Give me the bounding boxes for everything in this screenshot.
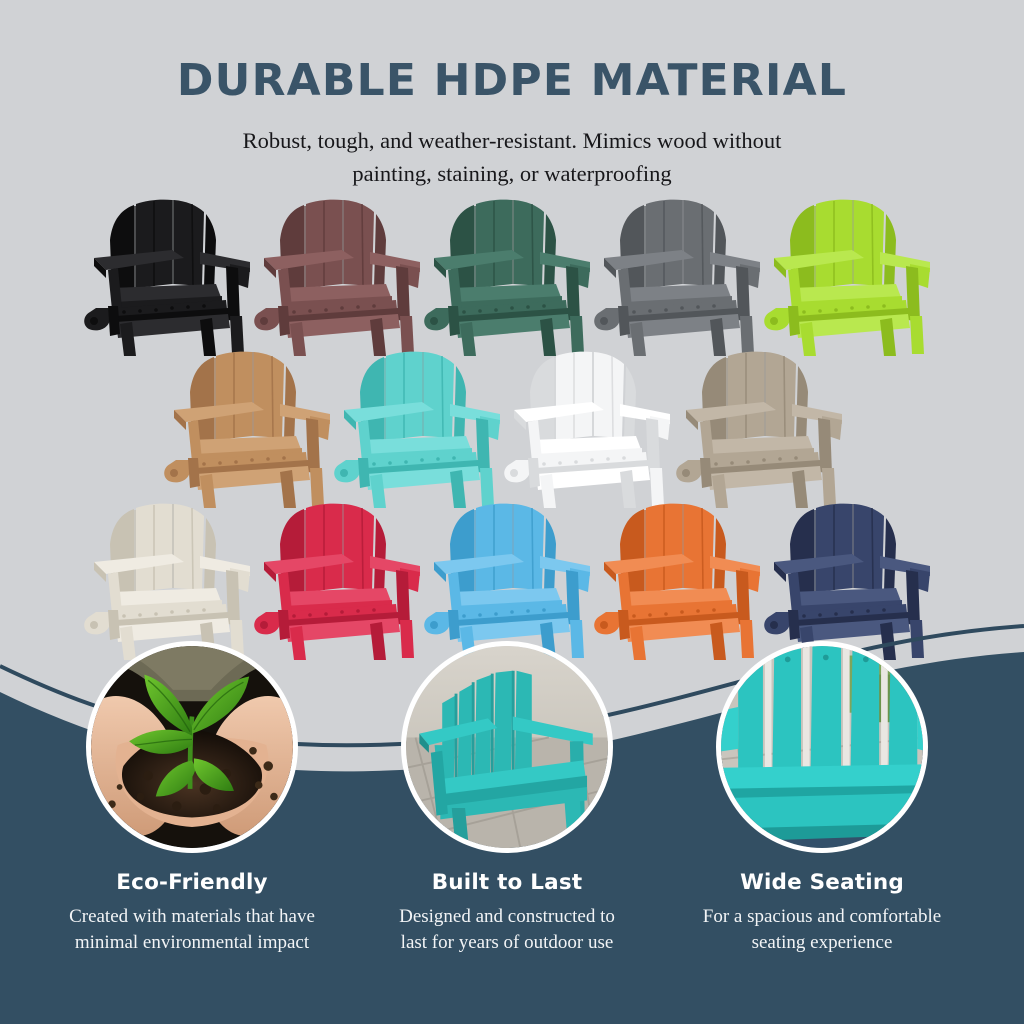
feature-description: Designed and constructed to last for yea… [342, 904, 672, 955]
chair-illustration [760, 196, 950, 356]
chair-illustration [420, 196, 610, 356]
subtitle-line-2: painting, staining, or waterproofing [0, 158, 1024, 191]
color-swatch-row [0, 196, 1024, 348]
feature-description: Created with materials that have minimal… [27, 904, 357, 955]
feature-desc-line-1: Designed and constructed to [342, 904, 672, 930]
feature-desc-line-1: For a spacious and comfortable [657, 904, 987, 930]
feature-image-built-to-last [401, 641, 613, 853]
feature-image-eco-friendly [86, 641, 298, 853]
feature-description: For a spacious and comfortable seating e… [657, 904, 987, 955]
promo-graphic: DURABLE HDPE MATERIAL Robust, tough, and… [0, 0, 1024, 1024]
chair-swatch-dark-brown[interactable] [250, 196, 440, 356]
chair-illustration [590, 196, 780, 356]
feature-title: Built to Last [342, 870, 672, 895]
chair-swatch-turquoise[interactable] [330, 348, 520, 508]
subtitle-line-1: Robust, tough, and weather-resistant. Mi… [0, 125, 1024, 158]
chair-swatch-teak[interactable] [160, 348, 350, 508]
chair-swatch-white[interactable] [500, 348, 690, 508]
chair-illustration [80, 196, 270, 356]
chair-swatch-black[interactable] [80, 196, 270, 356]
color-swatch-row [0, 348, 1024, 500]
chair-swatch-weathered-wood[interactable] [672, 348, 862, 508]
feature-desc-line-1: Created with materials that have [27, 904, 357, 930]
feature-desc-line-2: last for years of outdoor use [342, 930, 672, 956]
chair-illustration [330, 348, 520, 508]
feature-desc-line-2: seating experience [657, 930, 987, 956]
chair-illustration [672, 348, 862, 508]
chair-illustration [500, 348, 690, 508]
feature-image-wide-seating [716, 641, 928, 853]
chair-swatch-gray[interactable] [590, 196, 780, 356]
chair-swatch-lime-green[interactable] [760, 196, 950, 356]
feature-eco-friendly: Eco-Friendly Created with materials that… [27, 870, 357, 955]
header: DURABLE HDPE MATERIAL Robust, tough, and… [0, 0, 1024, 190]
page-title: DURABLE HDPE MATERIAL [0, 58, 1024, 104]
chair-illustration [160, 348, 350, 508]
chair-swatch-hunter-green[interactable] [420, 196, 610, 356]
feature-title: Eco-Friendly [27, 870, 357, 895]
feature-wide-seating: Wide Seating For a spacious and comforta… [657, 870, 987, 955]
feature-desc-line-2: minimal environmental impact [27, 930, 357, 956]
color-swatch-grid [0, 196, 1024, 652]
chair-illustration [250, 196, 440, 356]
feature-title: Wide Seating [657, 870, 987, 895]
feature-built-to-last: Built to Last Designed and constructed t… [342, 870, 672, 955]
page-subtitle: Robust, tough, and weather-resistant. Mi… [0, 125, 1024, 190]
